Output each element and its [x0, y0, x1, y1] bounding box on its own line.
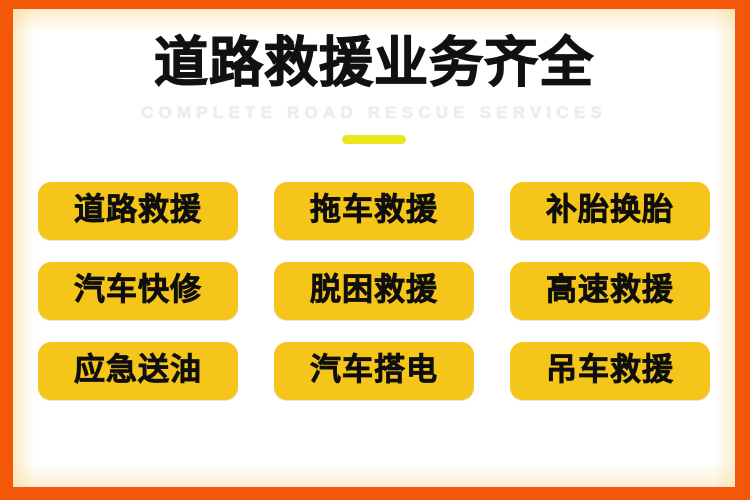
service-button-label: 汽车快修: [74, 275, 202, 306]
frame-bar-bottom: [0, 487, 750, 500]
service-button-tow-rescue[interactable]: 拖车救援: [274, 182, 474, 240]
service-button-grid: 道路救援 拖车救援 补胎换胎 汽车快修 脱困救援 高速救援 应急送油 汽车搭电: [25, 144, 723, 400]
service-button-label: 汽车搭电: [310, 355, 438, 386]
page-title: 道路救援业务齐全: [13, 35, 735, 92]
poster-header: 道路救援业务齐全 COMPLETE ROAD RESCUE SERVICES: [13, 9, 735, 144]
poster-content: 道路救援业务齐全 COMPLETE ROAD RESCUE SERVICES 道…: [13, 9, 735, 487]
frame-bar-right: [735, 0, 750, 500]
service-button-label: 道路救援: [74, 195, 202, 226]
service-button-label: 应急送油: [74, 355, 202, 386]
service-button-label: 高速救援: [546, 275, 674, 306]
service-button-label: 吊车救援: [546, 355, 674, 386]
service-button-label: 脱困救援: [310, 275, 438, 306]
service-button-road-rescue[interactable]: 道路救援: [38, 182, 238, 240]
service-button-jump-start[interactable]: 汽车搭电: [274, 342, 474, 400]
frame-bar-top: [0, 0, 750, 9]
service-button-extrication-rescue[interactable]: 脱困救援: [274, 262, 474, 320]
service-button-emergency-fuel-delivery[interactable]: 应急送油: [38, 342, 238, 400]
service-button-label: 拖车救援: [310, 195, 438, 226]
page-subtitle: COMPLETE ROAD RESCUE SERVICES: [13, 104, 735, 121]
title-divider: [342, 135, 406, 144]
service-button-label: 补胎换胎: [546, 195, 674, 226]
service-button-crane-rescue[interactable]: 吊车救援: [510, 342, 710, 400]
poster-root: 道路救援业务齐全 COMPLETE ROAD RESCUE SERVICES 道…: [0, 0, 750, 500]
frame-bar-left: [0, 0, 13, 500]
service-button-quick-car-repair[interactable]: 汽车快修: [38, 262, 238, 320]
service-button-highway-rescue[interactable]: 高速救援: [510, 262, 710, 320]
service-button-tire-repair-change[interactable]: 补胎换胎: [510, 182, 710, 240]
